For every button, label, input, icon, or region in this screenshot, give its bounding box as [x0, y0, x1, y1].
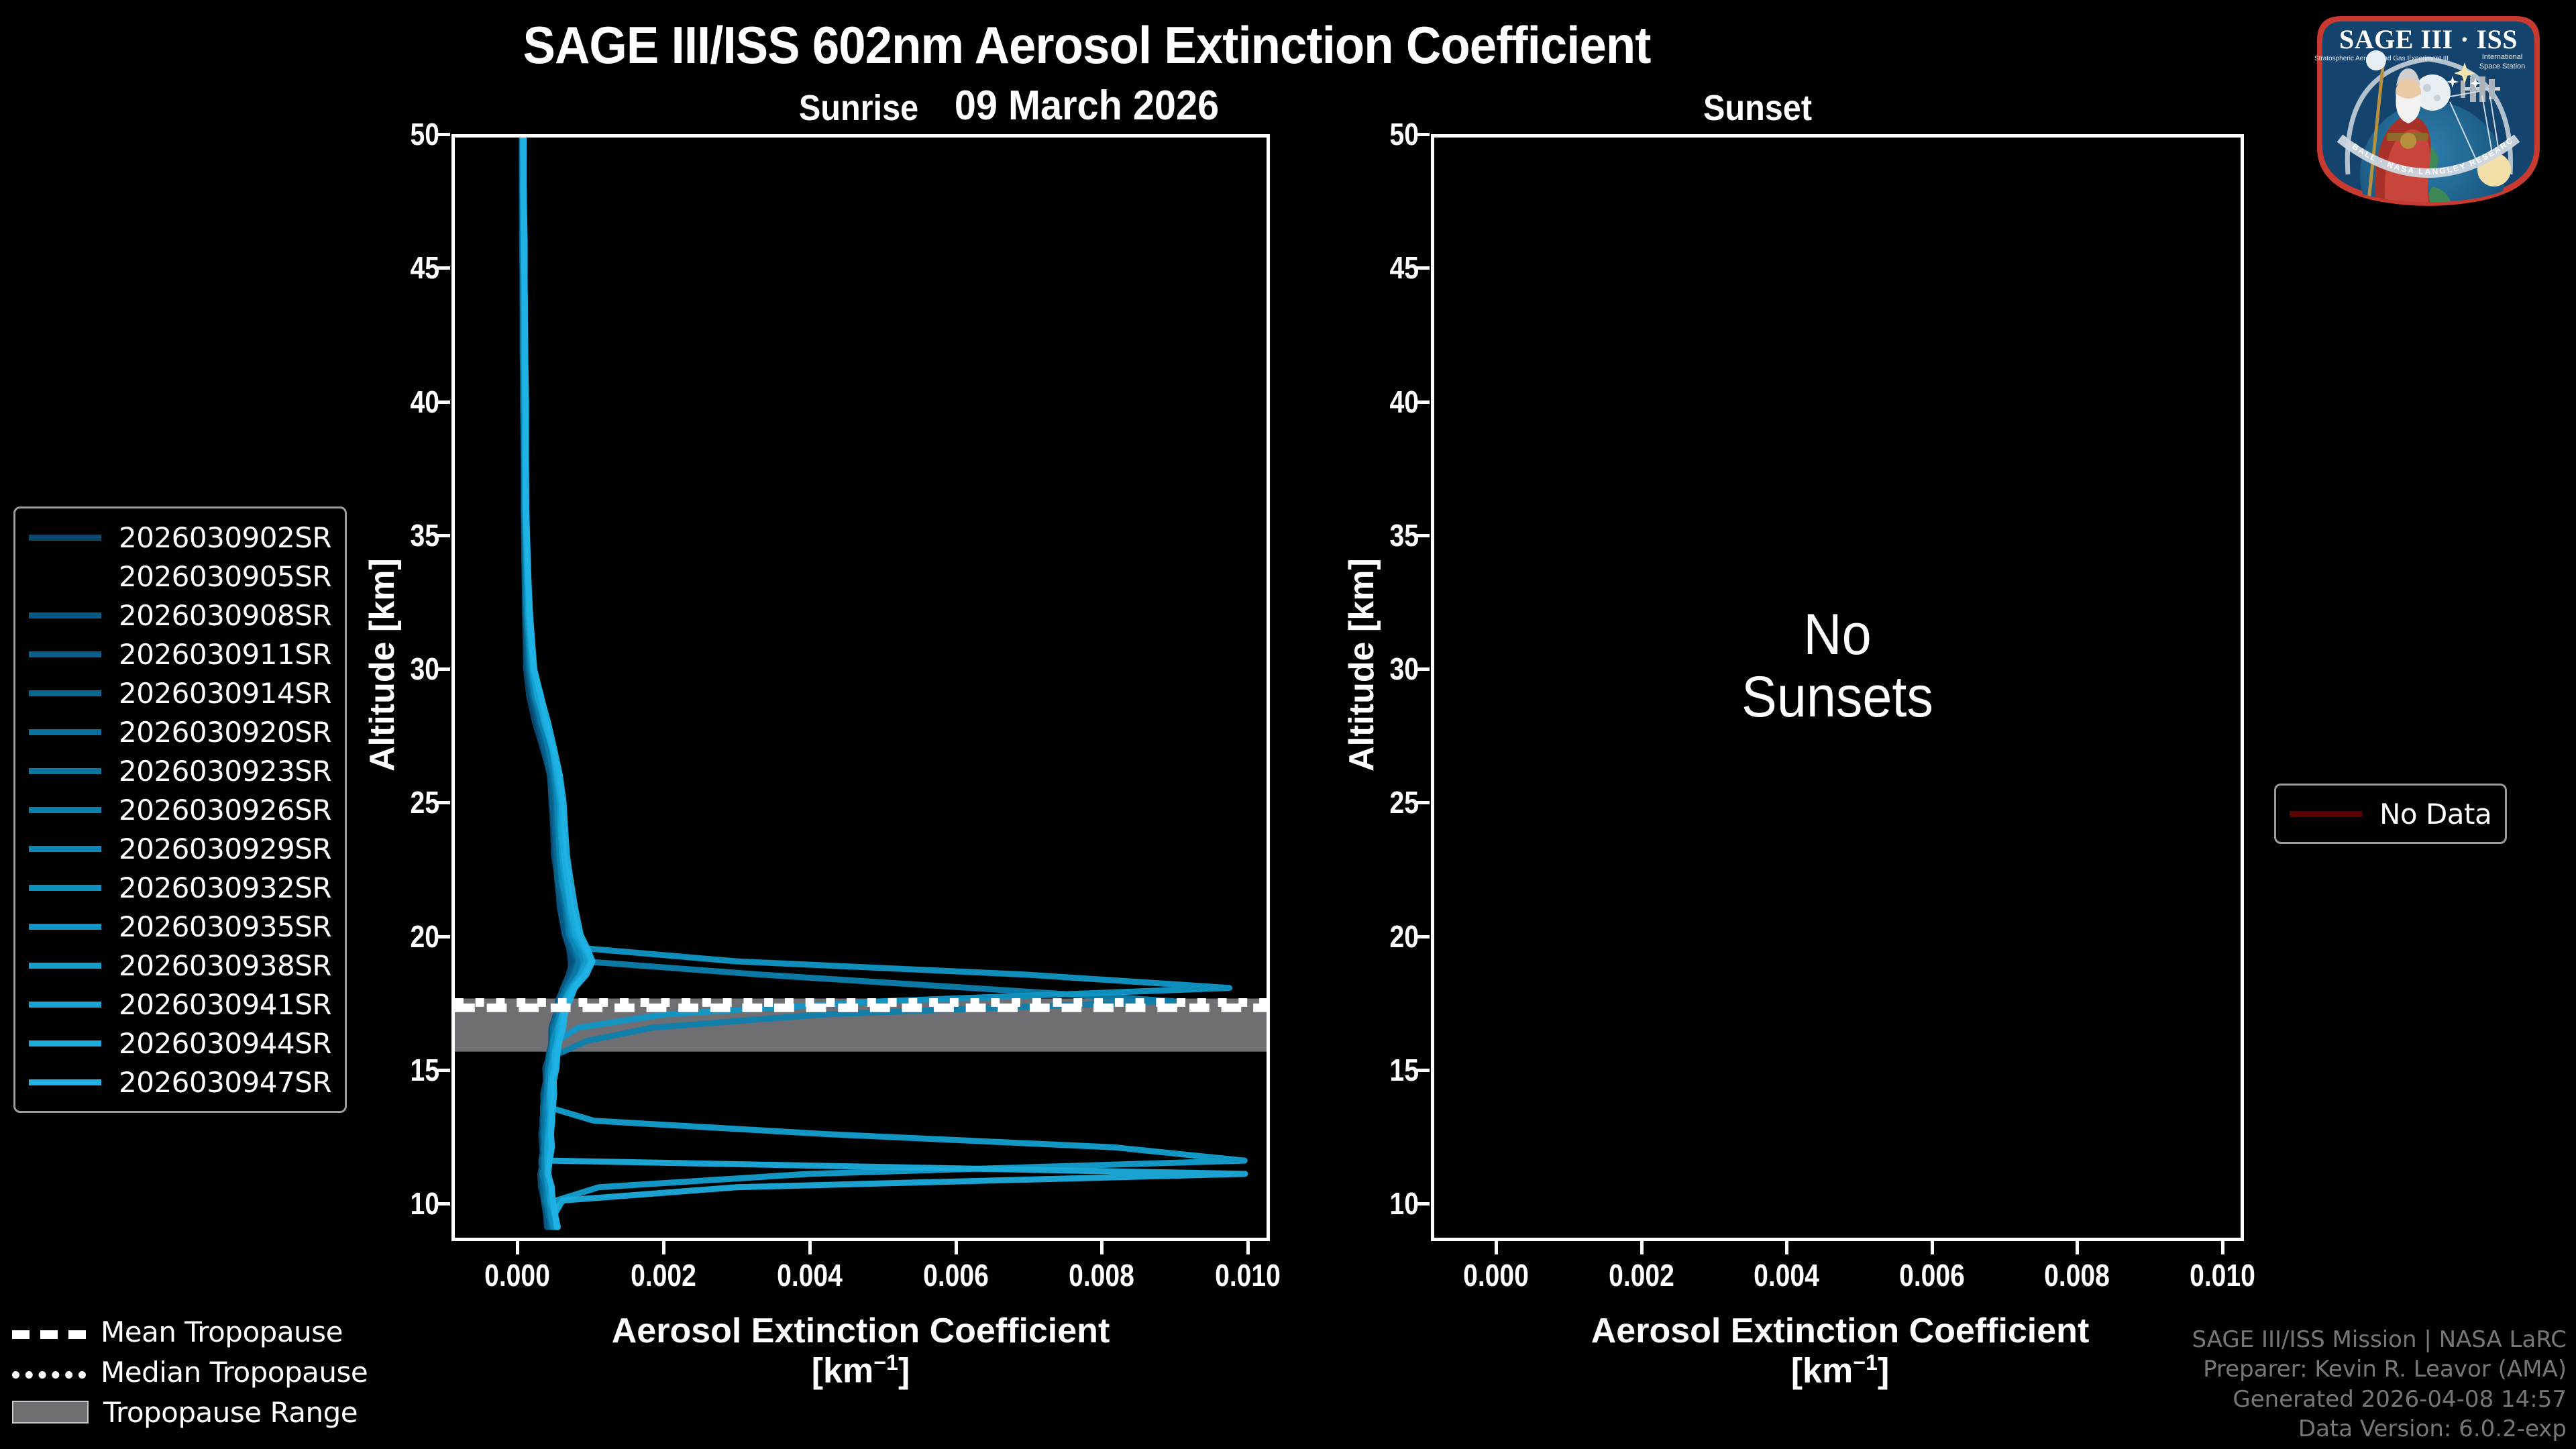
x-tick-label: 0.000	[449, 1257, 586, 1293]
tropopause-key-mean-label: Mean Tropopause	[101, 1316, 343, 1348]
tropopause-key-median: Median Tropopause	[12, 1352, 368, 1392]
panel-title-sunset: Sunset	[1582, 87, 1933, 129]
sunset-legend-label: No Data	[2379, 798, 2491, 830]
sunrise-legend-item[interactable]: 2026030905SR	[29, 557, 331, 596]
panel-title-sunrise: Sunrise	[684, 87, 1034, 129]
sunrise-x-axis-label: Aerosol Extinction Coefficient [km−1]	[552, 1311, 1169, 1391]
y-tick-mark	[437, 266, 450, 270]
sunset-x-axis-label: Aerosol Extinction Coefficient [km−1]	[1532, 1311, 2149, 1391]
x-tick-mark	[662, 1241, 665, 1254]
tropopause-key-range-label: Tropopause Range	[103, 1396, 358, 1429]
y-tick-mark	[1416, 1069, 1430, 1072]
y-tick-mark	[437, 1202, 450, 1205]
line-swatch-icon	[29, 690, 101, 696]
sunrise-legend-label: 2026030911SR	[119, 638, 331, 671]
no-sunsets-message: No Sunsets	[1463, 604, 2211, 729]
page-title: SAGE III/ISS 602nm Aerosol Extinction Co…	[76, 15, 2097, 76]
x-tick-mark	[2076, 1241, 2079, 1254]
x-tick-mark	[1931, 1241, 1934, 1254]
y-tick-label: 25	[388, 784, 440, 820]
x-tick-label: 0.002	[595, 1257, 732, 1293]
no-sunsets-line1: No	[1463, 604, 2211, 666]
y-tick-label: 45	[388, 250, 440, 286]
sunrise-legend-label: 2026030923SR	[119, 755, 331, 788]
sunset-x-axis: 0.0000.0020.0040.0060.0080.010	[0, 0, 1, 1]
x-tick-label: 0.008	[1033, 1257, 1170, 1293]
line-swatch-icon	[29, 963, 101, 969]
logo-moon-crater-1	[2423, 84, 2431, 92]
line-swatch-icon	[29, 612, 101, 619]
dotted-line-icon	[12, 1371, 86, 1379]
y-tick-mark	[1416, 266, 1430, 270]
y-tick-label: 35	[1368, 517, 1419, 553]
logo-moon-crater-2	[2434, 95, 2440, 101]
y-tick-label: 25	[1368, 784, 1419, 820]
logo-subtitle-left: Stratospheric Aerosol and Gas Experiment…	[2314, 55, 2449, 62]
y-tick-mark	[1416, 534, 1430, 537]
sage-iii-iss-logo: BALL · NASA LANGLEY RESEARCH CENTER · TA…	[2301, 7, 2556, 208]
x-tick-label: 0.006	[1864, 1257, 2000, 1293]
sunrise-legend-label: 2026030944SR	[119, 1027, 331, 1060]
sunset-x-axis-label-text: Aerosol Extinction Coefficient	[1591, 1311, 2090, 1350]
x-tick-label: 0.000	[1428, 1257, 1564, 1293]
line-swatch-icon	[29, 846, 101, 852]
extinction-profile-line	[523, 138, 1173, 1227]
sunrise-legend-label: 2026030914SR	[119, 677, 331, 710]
y-tick-mark	[1416, 133, 1430, 136]
y-tick-label: 40	[1368, 384, 1419, 420]
x-tick-label: 0.002	[1573, 1257, 1710, 1293]
sunrise-legend-label: 2026030929SR	[119, 833, 331, 865]
y-tick-label: 50	[1368, 116, 1419, 152]
y-tick-mark	[437, 935, 450, 938]
y-tick-label: 15	[388, 1052, 440, 1088]
sunrise-legend-item[interactable]: 2026030911SR	[29, 635, 331, 674]
y-tick-mark	[1416, 1202, 1430, 1205]
y-tick-label: 10	[388, 1185, 440, 1222]
extinction-profile-line	[523, 138, 1230, 1227]
sunrise-legend-item[interactable]: 2026030908SR	[29, 596, 331, 635]
tropopause-key-range: Tropopause Range	[12, 1392, 368, 1432]
sunrise-legend-item[interactable]: 2026030914SR	[29, 674, 331, 712]
y-tick-mark	[437, 133, 450, 136]
sunrise-legend[interactable]: 2026030902SR2026030905SR2026030908SR2026…	[13, 506, 347, 1113]
credits-line-generated: Generated 2026-04-08 14:57	[2192, 1385, 2567, 1414]
sunrise-legend-item[interactable]: 2026030923SR	[29, 751, 331, 790]
line-swatch-icon	[29, 807, 101, 813]
sunrise-legend-item[interactable]: 2026030935SR	[29, 907, 331, 946]
sunrise-legend-label: 2026030947SR	[119, 1066, 331, 1099]
y-tick-mark	[437, 400, 450, 404]
sunrise-legend-item[interactable]: 2026030932SR	[29, 868, 331, 907]
x-tick-mark	[516, 1241, 519, 1254]
x-tick-label: 0.004	[741, 1257, 878, 1293]
y-tick-mark	[1416, 801, 1430, 804]
sunrise-legend-item[interactable]: 2026030920SR	[29, 712, 331, 751]
tropopause-key-median-label: Median Tropopause	[101, 1356, 368, 1389]
y-tick-label: 45	[1368, 250, 1419, 286]
line-swatch-icon	[29, 729, 101, 735]
line-swatch-icon	[29, 1002, 101, 1008]
x-tick-mark	[1640, 1241, 1644, 1254]
logo-subtitle-right-1: International	[2482, 53, 2523, 61]
sunrise-legend-item[interactable]: 2026030926SR	[29, 790, 331, 829]
logo-subtitle-right-2: Space Station	[2479, 62, 2526, 70]
no-sunsets-line2: Sunsets	[1463, 666, 2211, 729]
y-tick-mark	[1416, 935, 1430, 938]
tropopause-key-mean: Mean Tropopause	[12, 1311, 368, 1352]
y-tick-mark	[437, 534, 450, 537]
sunrise-legend-item[interactable]: 2026030902SR	[29, 518, 331, 557]
sunset-legend-item[interactable]: No Data	[2290, 795, 2491, 833]
sunrise-legend-label: 2026030938SR	[119, 949, 331, 982]
tropopause-key: Mean Tropopause Median Tropopause Tropop…	[12, 1311, 368, 1432]
y-tick-mark	[437, 801, 450, 804]
line-swatch-icon	[29, 768, 101, 774]
logo-title: SAGE III · ISS	[2339, 24, 2518, 54]
y-tick-label: 10	[1368, 1185, 1419, 1222]
line-swatch-icon	[29, 535, 101, 541]
sunset-y-axis-label: Altitude [km]	[1342, 558, 1382, 771]
sunrise-legend-item[interactable]: 2026030929SR	[29, 829, 331, 868]
sunrise-legend-label: 2026030935SR	[119, 910, 331, 943]
line-swatch-icon	[29, 1040, 101, 1046]
x-tick-mark	[2221, 1241, 2224, 1254]
y-tick-label: 40	[388, 384, 440, 420]
credits-line-version: Data Version: 6.0.2-exp	[2192, 1414, 2567, 1444]
line-swatch-icon	[2290, 811, 2362, 817]
y-tick-label: 50	[388, 116, 440, 152]
x-tick-mark	[808, 1241, 812, 1254]
x-tick-label: 0.008	[2008, 1257, 2145, 1293]
credits-block: SAGE III/ISS Mission | NASA LaRC Prepare…	[2192, 1325, 2567, 1444]
x-tick-label: 0.010	[2154, 1257, 2291, 1293]
band-swatch-icon	[12, 1401, 89, 1424]
sunrise-legend-item[interactable]: 2026030938SR	[29, 946, 331, 985]
sunrise-plot-area	[451, 134, 1270, 1241]
sunrise-legend-label: 2026030905SR	[119, 560, 331, 593]
sunrise-y-axis-label: Altitude [km]	[362, 558, 402, 771]
sunrise-legend-label: 2026030941SR	[119, 988, 331, 1021]
x-tick-mark	[1100, 1241, 1104, 1254]
sunrise-legend-label: 2026030932SR	[119, 871, 331, 904]
x-tick-mark	[1785, 1241, 1788, 1254]
y-tick-mark	[1416, 400, 1430, 404]
sunset-legend[interactable]: No Data	[2274, 784, 2507, 844]
x-tick-label: 0.004	[1718, 1257, 1855, 1293]
sunrise-legend-item[interactable]: 2026030944SR	[29, 1024, 331, 1063]
x-tick-label: 0.006	[888, 1257, 1024, 1293]
credits-line-preparer: Preparer: Kevin R. Leavor (AMA)	[2192, 1354, 2567, 1384]
extinction-profile-line	[523, 138, 1245, 1227]
sunrise-x-axis-label-text: Aerosol Extinction Coefficient	[612, 1311, 1110, 1350]
y-tick-label: 20	[388, 918, 440, 955]
x-tick-mark	[1495, 1241, 1498, 1254]
x-tick-label: 0.010	[1179, 1257, 1316, 1293]
line-swatch-icon	[29, 574, 101, 580]
sunrise-legend-item[interactable]: 2026030947SR	[29, 1063, 331, 1102]
y-tick-mark	[1416, 667, 1430, 671]
y-tick-mark	[437, 667, 450, 671]
sunrise-legend-label: 2026030926SR	[119, 794, 331, 826]
y-tick-label: 15	[1368, 1052, 1419, 1088]
y-tick-mark	[437, 1069, 450, 1072]
line-swatch-icon	[29, 885, 101, 891]
line-swatch-icon	[29, 924, 101, 930]
line-swatch-icon	[29, 651, 101, 657]
x-tick-mark	[1246, 1241, 1250, 1254]
sunrise-legend-item[interactable]: 2026030941SR	[29, 985, 331, 1024]
y-tick-label: 20	[1368, 918, 1419, 955]
sunrise-legend-label: 2026030908SR	[119, 599, 331, 632]
extinction-profile-line	[524, 138, 1245, 1227]
sunrise-x-axis-unit: [km−1]	[552, 1350, 1169, 1391]
sunset-x-axis-unit: [km−1]	[1532, 1350, 2149, 1391]
x-tick-mark	[955, 1241, 958, 1254]
sunrise-legend-label: 2026030902SR	[119, 521, 331, 554]
credits-line-mission: SAGE III/ISS Mission | NASA LaRC	[2192, 1325, 2567, 1354]
dashed-line-icon	[12, 1330, 86, 1339]
sunrise-plot-canvas	[455, 138, 1267, 1238]
y-tick-label: 35	[388, 517, 440, 553]
sunrise-legend-label: 2026030920SR	[119, 716, 331, 749]
line-swatch-icon	[29, 1079, 101, 1085]
